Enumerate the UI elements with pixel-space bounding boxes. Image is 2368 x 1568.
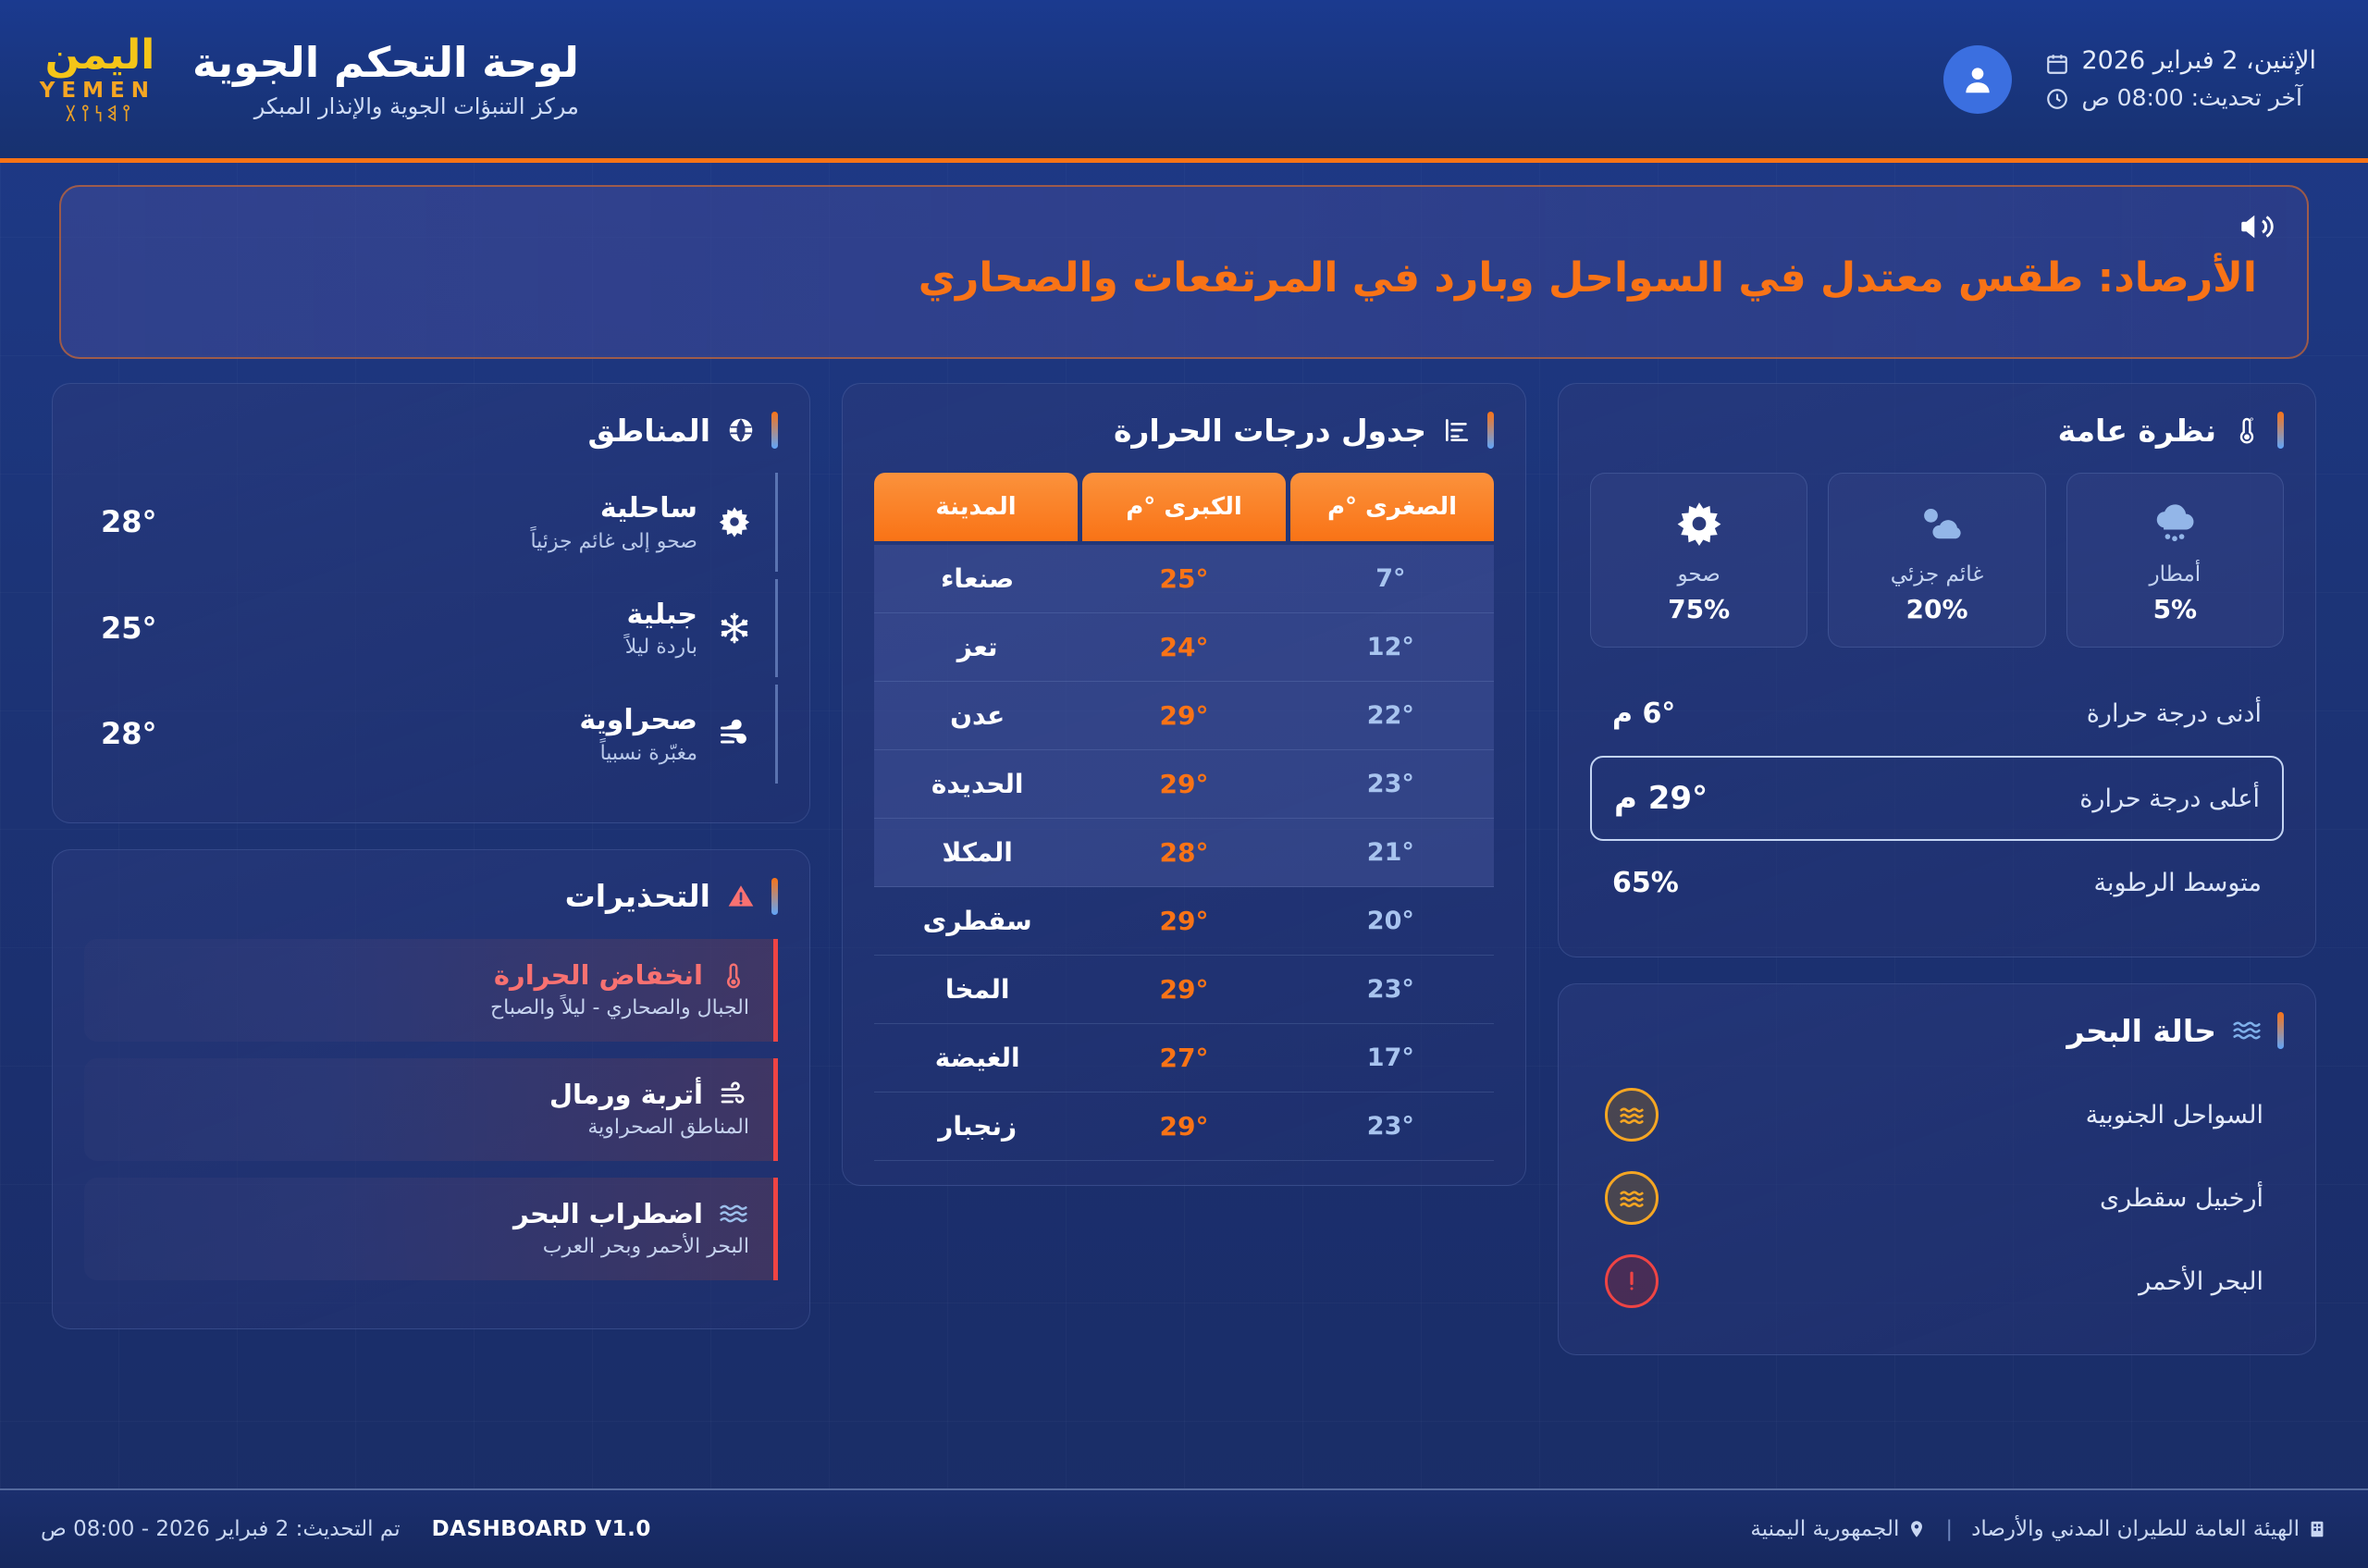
cell-city: الغيضة: [874, 1043, 1080, 1073]
table-row[interactable]: 7° 25° صنعاء: [874, 545, 1494, 613]
table-row[interactable]: 20° 29° سقطرى: [874, 887, 1494, 956]
sun-icon: [716, 503, 753, 540]
cell-city: المخا: [874, 974, 1080, 1005]
alert-icon: [1605, 1254, 1659, 1308]
cell-min: 21°: [1288, 838, 1494, 867]
overview-card-clear[interactable]: صحو 75%: [1590, 473, 1807, 648]
stat-value: 29° م: [1614, 780, 1708, 817]
cell-city: زنجبار: [874, 1111, 1080, 1142]
region-temp: 25°: [101, 611, 157, 646]
sea-label: البحر الأحمر: [2139, 1267, 2263, 1296]
waves-icon: [718, 1198, 749, 1229]
cell-city: تعز: [874, 632, 1080, 662]
stat-row-humidity: متوسط الرطوبة 65%: [1590, 848, 2284, 918]
yemen-logo: اليمن YEMEN 𐩺𐩣𐩬𐩺𐩩: [44, 35, 155, 124]
regions-title: المناطق: [587, 413, 710, 449]
logo-latin-text: YEMEN: [44, 80, 155, 102]
overview-title: نظرة عامة: [2058, 413, 2216, 449]
stat-row-min-temp: أدنى درجة حرارة 6° م: [1590, 679, 2284, 748]
thermometer-icon: °: [2231, 414, 2263, 446]
footer-authority: الهيئة العامة للطيران المدني والأرصاد: [1971, 1517, 2327, 1541]
stat-row-max-temp[interactable]: أعلى درجة حرارة 29° م: [1590, 756, 2284, 841]
rain-icon: [2077, 498, 2274, 549]
cell-min: 22°: [1288, 701, 1494, 730]
table-body: 7° 25° صنعاء 12° 24° تعز 22° 29° عدن: [874, 545, 1494, 1161]
overview-header: ° نظرة عامة: [1590, 412, 2284, 449]
overview-value: 5%: [2077, 594, 2274, 624]
footer-country-text: الجمهورية اليمنية: [1750, 1517, 1899, 1541]
region-row-mountain[interactable]: جبلية باردة ليلاً 25°: [84, 579, 778, 678]
cell-min: 23°: [1288, 770, 1494, 798]
header-title-block: لوحة التحكم الجوية مركز التنبؤات الجوية …: [192, 39, 579, 120]
warning-title: انخفاض الحرارة: [494, 959, 703, 991]
warning-row-dust[interactable]: أتربة ورمال المناطق الصحراوية: [84, 1058, 778, 1161]
app-header: الإثنين، 2 فبراير 2026 آخر تحديث: 08:00 …: [0, 0, 2368, 163]
warning-head: انخفاض الحرارة: [105, 959, 749, 991]
region-left-group: صحراوية مغبّرة نسبياً: [579, 703, 753, 765]
cell-max: 29°: [1080, 1111, 1287, 1142]
warning-title: اضطراب البحر: [513, 1198, 703, 1229]
alert-banner[interactable]: الأرصاد: طقس معتدل في السواحل وبارد في ا…: [59, 185, 2309, 359]
region-desc: باردة ليلاً: [625, 636, 697, 659]
logo-musnad-text: 𐩺𐩣𐩬𐩺𐩩: [44, 105, 155, 124]
sea-label: السواحل الجنوبية: [2086, 1101, 2263, 1130]
region-name: ساحلية: [530, 491, 697, 526]
warnings-card: التحذيرات انخفاض الحرارة الجبال والصحاري…: [52, 849, 810, 1329]
region-temp: 28°: [101, 716, 157, 751]
cell-city: الحديدة: [874, 769, 1080, 799]
stat-label: أعلى درجة حرارة: [2079, 784, 2260, 813]
header-left-group: الإثنين، 2 فبراير 2026 آخر تحديث: 08:00 …: [1943, 42, 2317, 117]
warning-head: أتربة ورمال: [105, 1079, 749, 1110]
warning-desc: البحر الأحمر وبحر العرب: [105, 1235, 749, 1258]
warning-row-cold[interactable]: انخفاض الحرارة الجبال والصحاري - ليلاً و…: [84, 939, 778, 1042]
region-text: جبلية باردة ليلاً: [625, 598, 697, 660]
table-header-row: الصغرى °م الكبرى °م المدينة: [874, 473, 1494, 541]
accent-bar: [1487, 412, 1494, 449]
last-update-row: آخر تحديث: 08:00 ص: [2045, 80, 2317, 117]
cell-min: 12°: [1288, 633, 1494, 661]
temperature-table-card: جدول درجات الحرارة الصغرى °م الكبرى °م ا…: [842, 383, 1526, 1186]
svg-text:°: °: [2250, 416, 2254, 428]
column-header-min[interactable]: الصغرى °م: [1290, 473, 1494, 541]
alert-banner-wrapper: الأرصاد: طقس معتدل في السواحل وبارد في ا…: [0, 163, 2368, 359]
warning-head: اضطراب البحر: [105, 1198, 749, 1229]
region-temp: 28°: [101, 504, 157, 539]
warning-desc: المناطق الصحراوية: [105, 1116, 749, 1139]
header-right-group: لوحة التحكم الجوية مركز التنبؤات الجوية …: [44, 35, 579, 124]
temperature-table-title: جدول درجات الحرارة: [1114, 413, 1426, 449]
cell-max: 24°: [1080, 632, 1287, 662]
cell-max: 27°: [1080, 1043, 1287, 1073]
temperature-table-header: جدول درجات الحرارة: [874, 412, 1494, 449]
warning-row-sea[interactable]: اضطراب البحر البحر الأحمر وبحر العرب: [84, 1178, 778, 1280]
sea-state-title: حالة البحر: [2066, 1013, 2216, 1049]
overview-value: 75%: [1600, 594, 1797, 624]
regions-card: المناطق ساحلية صحو إلى غائم جزئياً 28°: [52, 383, 810, 823]
region-left-group: ساحلية صحو إلى غائم جزئياً: [530, 491, 753, 553]
warning-title: أتربة ورمال: [549, 1079, 703, 1110]
region-text: صحراوية مغبّرة نسبياً: [579, 703, 697, 765]
wind-icon: [718, 1079, 749, 1110]
stat-label: متوسط الرطوبة: [2094, 869, 2262, 897]
chart-icon: [1441, 414, 1473, 446]
cell-city: عدن: [874, 700, 1080, 731]
weather-dashboard: الإثنين، 2 فبراير 2026 آخر تحديث: 08:00 …: [0, 0, 2368, 1568]
cell-max: 29°: [1080, 906, 1287, 936]
overview-label: غائم جزئي: [1838, 562, 2035, 586]
location-pin-icon: [1906, 1519, 1927, 1539]
footer-authority-group: الهيئة العامة للطيران المدني والأرصاد | …: [1750, 1517, 2327, 1541]
cell-max: 29°: [1080, 769, 1287, 799]
page-subtitle: مركز التنبؤات الجوية والإنذار المبكر: [192, 93, 579, 119]
clock-icon: [2045, 86, 2069, 110]
megaphone-icon: [2237, 207, 2275, 246]
sea-row-red-sea[interactable]: البحر الأحمر: [1590, 1240, 2284, 1323]
user-icon: [1960, 62, 1995, 97]
accent-bar: [2277, 412, 2284, 449]
overview-card-rain[interactable]: أمطار 5%: [2066, 473, 2284, 648]
sea-state-header: حالة البحر: [1590, 1012, 2284, 1049]
warnings-title: التحذيرات: [565, 878, 710, 914]
footer-version: DASHBOARD V1.0: [432, 1517, 651, 1541]
regions-header: المناطق: [84, 412, 778, 449]
waves-icon: [1605, 1088, 1659, 1142]
cell-min: 23°: [1288, 975, 1494, 1004]
page-title: لوحة التحكم الجوية: [192, 39, 579, 87]
thermometer-icon: [718, 959, 749, 991]
calendar-icon: [2045, 49, 2069, 73]
overview-label: صحو: [1600, 562, 1797, 586]
current-date-row: الإثنين، 2 فبراير 2026: [2045, 42, 2317, 80]
accent-bar: [2277, 1012, 2284, 1049]
sea-state-card: حالة البحر السواحل الجنوبية أرخبيل سقطرى…: [1558, 983, 2316, 1355]
column-header-max[interactable]: الكبرى °م: [1082, 473, 1286, 541]
footer-authority-text: الهيئة العامة للطيران المدني والأرصاد: [1971, 1517, 2300, 1541]
partly-cloudy-icon: [1838, 498, 2035, 549]
overview-card-partly-cloudy[interactable]: غائم جزئي 20%: [1828, 473, 2045, 648]
sun-icon: [1600, 498, 1797, 549]
waves-icon: [2231, 1015, 2263, 1046]
cell-min: 20°: [1288, 907, 1494, 935]
snowflake-icon: [716, 610, 753, 647]
region-desc: مغبّرة نسبياً: [579, 742, 697, 765]
table-row[interactable]: 23° 29° الحديدة: [874, 750, 1494, 819]
wind-icon: [716, 715, 753, 752]
cell-max: 29°: [1080, 700, 1287, 731]
region-desc: صحو إلى غائم جزئياً: [530, 530, 697, 553]
region-text: ساحلية صحو إلى غائم جزئياً: [530, 491, 697, 553]
current-date: الإثنين، 2 فبراير 2026: [2082, 42, 2317, 80]
region-row-desert[interactable]: صحراوية مغبّرة نسبياً 28°: [84, 685, 778, 784]
stat-value: 6° م: [1612, 698, 1675, 730]
region-name: جبلية: [625, 598, 697, 633]
column-header-city[interactable]: المدينة: [874, 473, 1078, 541]
accent-bar: [771, 412, 778, 449]
warning-desc: الجبال والصحاري - ليلاً والصباح: [105, 996, 749, 1019]
table-row[interactable]: 17° 27° الغيضة: [874, 1024, 1494, 1093]
warning-triangle-icon: [725, 881, 757, 912]
overview-cards: أمطار 5% غائم جزئي 20% صحو: [1590, 473, 2284, 648]
footer-country: الجمهورية اليمنية: [1750, 1517, 1927, 1541]
table-row[interactable]: 12° 24° تعز: [874, 613, 1494, 682]
stat-value: 65%: [1612, 867, 1679, 899]
cell-min: 17°: [1288, 1043, 1494, 1072]
cell-min: 7°: [1288, 564, 1494, 593]
cell-max: 25°: [1080, 563, 1287, 594]
table-row[interactable]: 22° 29° عدن: [874, 682, 1494, 750]
region-left-group: جبلية باردة ليلاً: [625, 598, 753, 660]
avatar[interactable]: [1943, 45, 2012, 114]
app-footer: الهيئة العامة للطيران المدني والأرصاد | …: [0, 1488, 2368, 1568]
warnings-header: التحذيرات: [84, 878, 778, 915]
overview-column: ° نظرة عامة أمطار 5%: [1558, 383, 2316, 1355]
cell-max: 29°: [1080, 974, 1287, 1005]
overview-card: ° نظرة عامة أمطار 5%: [1558, 383, 2316, 957]
footer-updated-text: تم التحديث: 2 فبراير 2026 - 08:00 ص: [41, 1517, 401, 1541]
cell-city: صنعاء: [874, 563, 1080, 594]
sea-label: أرخبيل سقطرى: [2100, 1184, 2263, 1213]
table-row[interactable]: 23° 29° زنجبار: [874, 1093, 1494, 1161]
last-update: آخر تحديث: 08:00 ص: [2082, 80, 2302, 117]
footer-separator: |: [1945, 1517, 1953, 1541]
cell-max: 28°: [1080, 837, 1287, 868]
waves-icon: [1605, 1171, 1659, 1225]
building-icon: [2307, 1519, 2327, 1539]
regions-column: المناطق ساحلية صحو إلى غائم جزئياً 28°: [52, 383, 810, 1329]
cell-min: 23°: [1288, 1112, 1494, 1141]
overview-label: أمطار: [2077, 562, 2274, 586]
main-grid: ° نظرة عامة أمطار 5%: [0, 359, 2368, 1488]
globe-icon: [725, 414, 757, 446]
accent-bar: [771, 878, 778, 915]
logo-arabic-text: اليمن: [44, 35, 155, 76]
region-row-coastal[interactable]: ساحلية صحو إلى غائم جزئياً 28°: [84, 473, 778, 572]
stat-label: أدنى درجة حرارة: [2087, 699, 2262, 728]
sea-row-south-coast[interactable]: السواحل الجنوبية: [1590, 1073, 2284, 1156]
table-row[interactable]: 23° 29° المخا: [874, 956, 1494, 1024]
region-name: صحراوية: [579, 703, 697, 738]
sea-row-socotra[interactable]: أرخبيل سقطرى: [1590, 1156, 2284, 1240]
overview-value: 20%: [1838, 594, 2035, 624]
cell-city: سقطرى: [874, 906, 1080, 936]
cell-city: المكلا: [874, 837, 1080, 868]
footer-meta-group: تم التحديث: 2 فبراير 2026 - 08:00 ص DASH…: [41, 1517, 651, 1541]
alert-banner-text: الأرصاد: طقس معتدل في السواحل وبارد في ا…: [111, 239, 2257, 304]
table-row[interactable]: 21° 28° المكلا: [874, 819, 1494, 887]
temperature-column: جدول درجات الحرارة الصغرى °م الكبرى °م ا…: [842, 383, 1526, 1186]
datetime-block: الإثنين، 2 فبراير 2026 آخر تحديث: 08:00 …: [2045, 42, 2317, 117]
